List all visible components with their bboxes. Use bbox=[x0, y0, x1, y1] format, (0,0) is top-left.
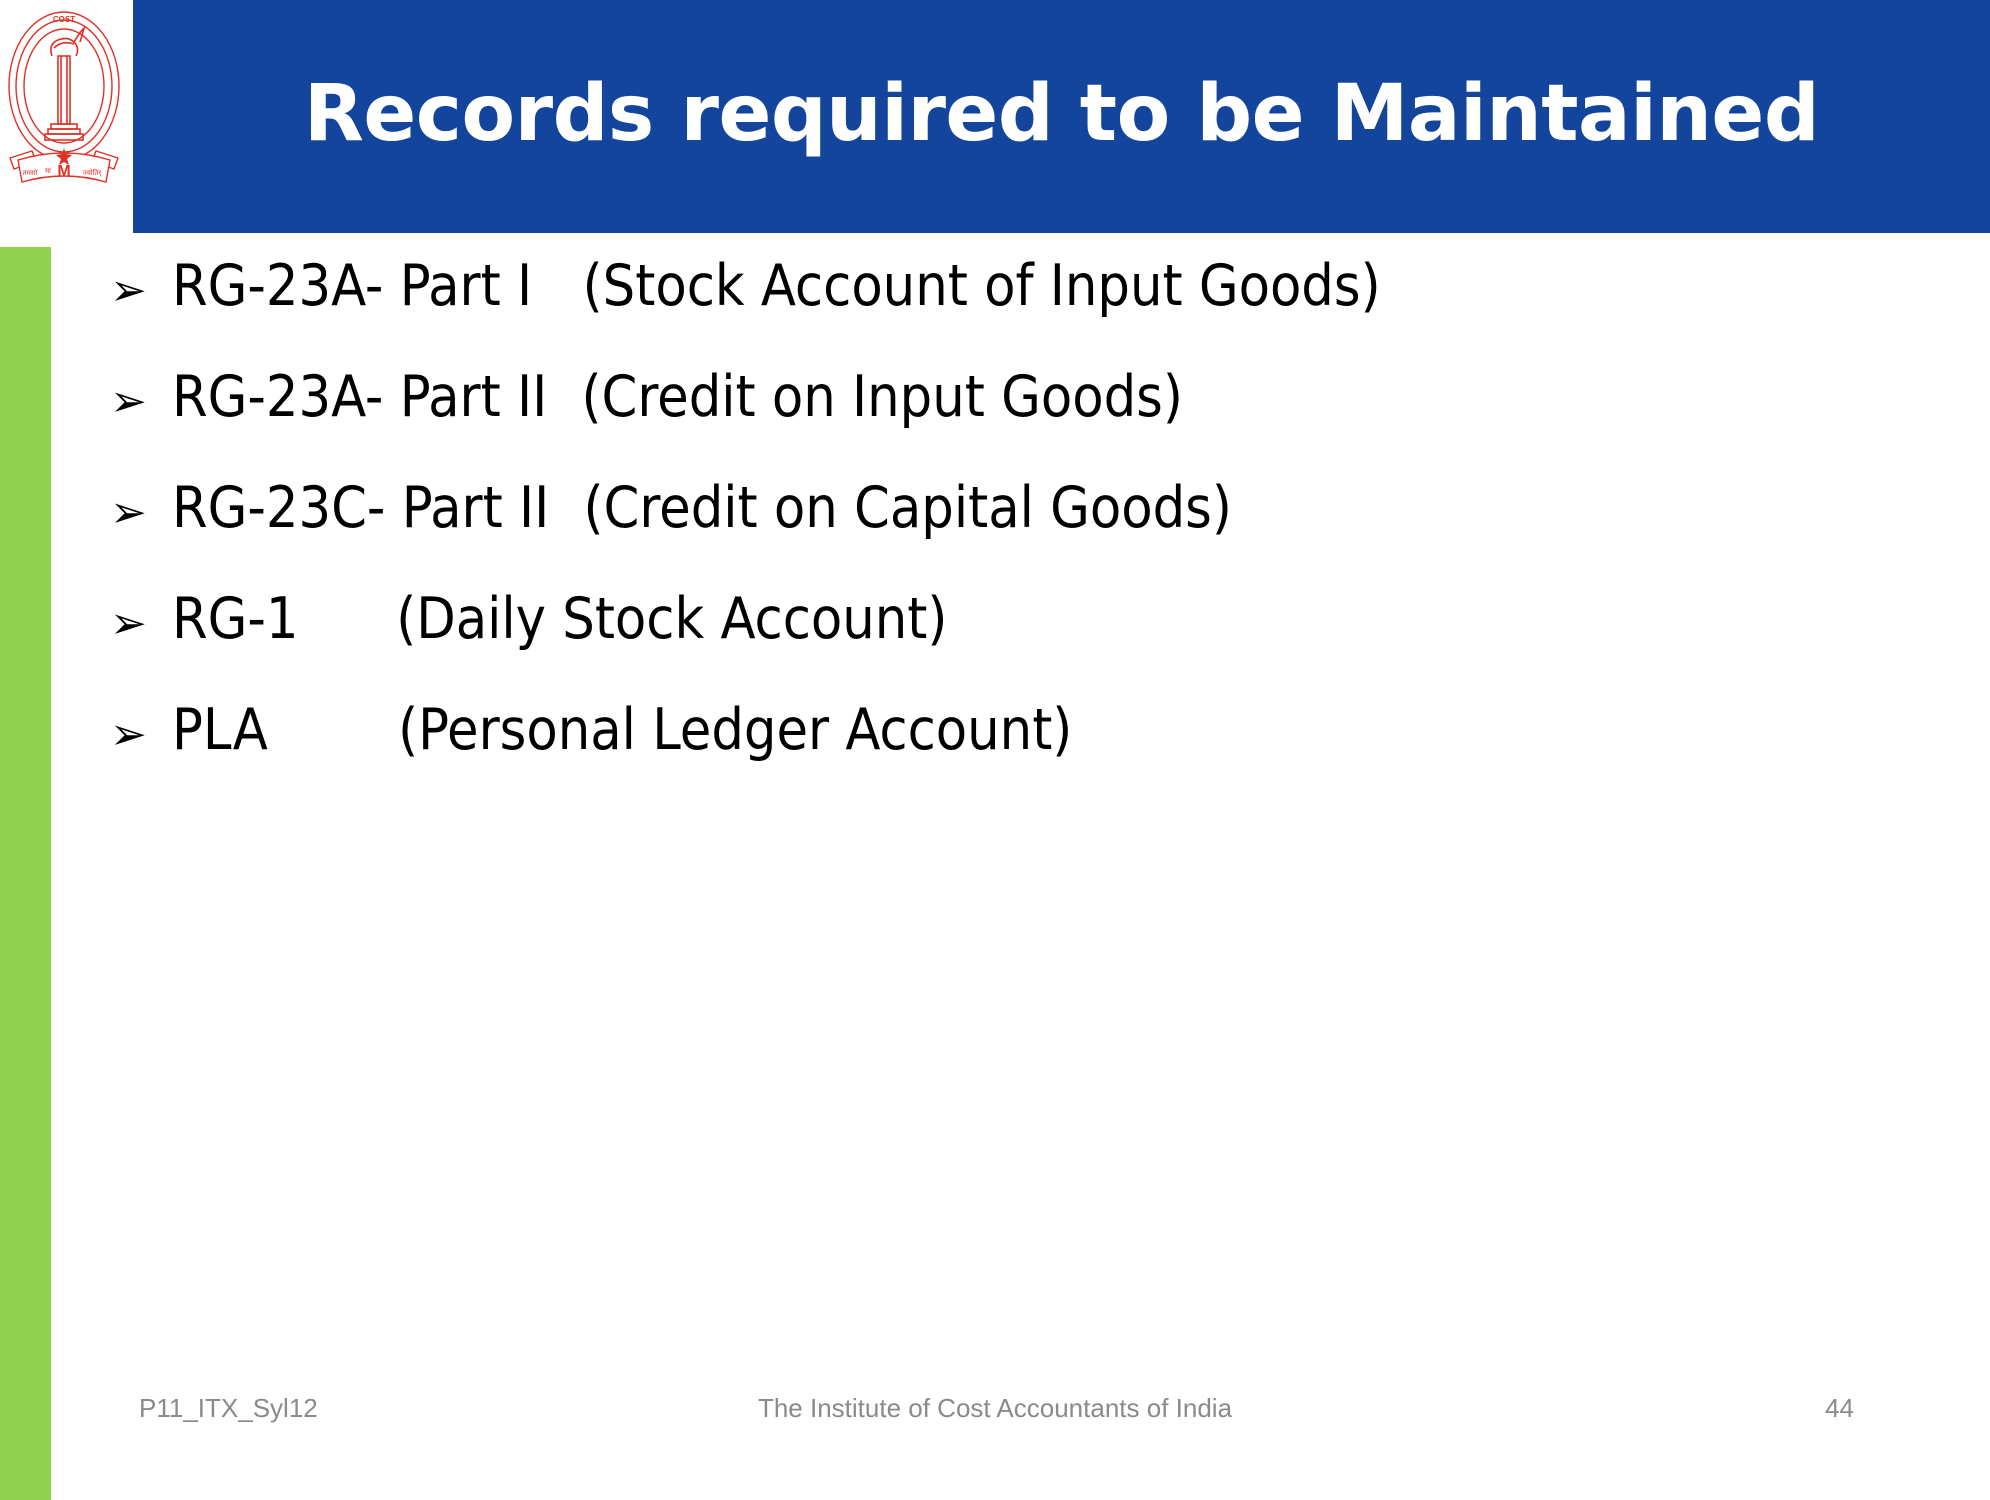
chevron-bullet-icon: ➢ bbox=[110, 380, 172, 424]
list-item-text: PLA (Personal Ledger Account) bbox=[172, 702, 1072, 759]
chevron-bullet-icon: ➢ bbox=[110, 269, 172, 313]
list-item-label: RG-23C- Part II bbox=[172, 480, 549, 537]
institute-logo: M तमसो मा ज्योतिर् COST bbox=[4, 8, 124, 186]
svg-text:M: M bbox=[57, 163, 70, 180]
slide-footer: P11_ITX_Syl12 The Institute of Cost Acco… bbox=[0, 1393, 1990, 1441]
svg-text:ज्योतिर्: ज्योतिर् bbox=[83, 168, 103, 177]
list-item-text: RG-23C- Part II (Credit on Capital Goods… bbox=[172, 480, 1232, 537]
chevron-bullet-icon: ➢ bbox=[110, 713, 172, 757]
slide-page-number: 44 bbox=[1825, 1393, 1854, 1424]
list-item-text: RG-1 (Daily Stock Account) bbox=[172, 591, 947, 648]
list-item-desc: (Daily Stock Account) bbox=[396, 591, 947, 648]
page-title: Records required to be Maintained bbox=[133, 0, 1990, 233]
list-item-text: RG-23A- Part I (Stock Account of Input G… bbox=[172, 258, 1381, 315]
list-item-desc: (Personal Ledger Account) bbox=[398, 702, 1072, 759]
chevron-bullet-icon: ➢ bbox=[110, 602, 172, 646]
list-item-label: RG-23A- Part I bbox=[172, 258, 532, 315]
list-item-text: RG-23A- Part II (Credit on Input Goods) bbox=[172, 369, 1183, 426]
list-item-label: RG-1 bbox=[172, 591, 299, 648]
svg-text:मा: मा bbox=[45, 168, 51, 175]
list-item: ➢ PLA (Personal Ledger Account) bbox=[110, 702, 1870, 813]
list-item: ➢ RG-23C- Part II (Credit on Capital Goo… bbox=[110, 480, 1870, 591]
title-band: Records required to be Maintained bbox=[133, 0, 1990, 233]
list-item-label: RG-23A- Part II bbox=[172, 369, 547, 426]
list-item: ➢ RG-1 (Daily Stock Account) bbox=[110, 591, 1870, 702]
bullet-list: ➢ RG-23A- Part I (Stock Account of Input… bbox=[110, 258, 1870, 813]
slide-canvas: Records required to be Maintained bbox=[0, 0, 1990, 1500]
list-item: ➢ RG-23A- Part II (Credit on Input Goods… bbox=[110, 369, 1870, 480]
svg-text:तमसो: तमसो bbox=[23, 168, 38, 177]
footer-organization: The Institute of Cost Accountants of Ind… bbox=[0, 1393, 1990, 1424]
left-accent-bar bbox=[0, 247, 51, 1500]
svg-text:COST: COST bbox=[53, 15, 75, 24]
list-item-desc: (Credit on Input Goods) bbox=[581, 369, 1182, 426]
list-item-label: PLA bbox=[172, 702, 268, 759]
list-item-desc: (Credit on Capital Goods) bbox=[583, 480, 1231, 537]
list-item-desc: (Stock Account of Input Goods) bbox=[583, 258, 1381, 315]
chevron-bullet-icon: ➢ bbox=[110, 491, 172, 535]
list-item: ➢ RG-23A- Part I (Stock Account of Input… bbox=[110, 258, 1870, 369]
